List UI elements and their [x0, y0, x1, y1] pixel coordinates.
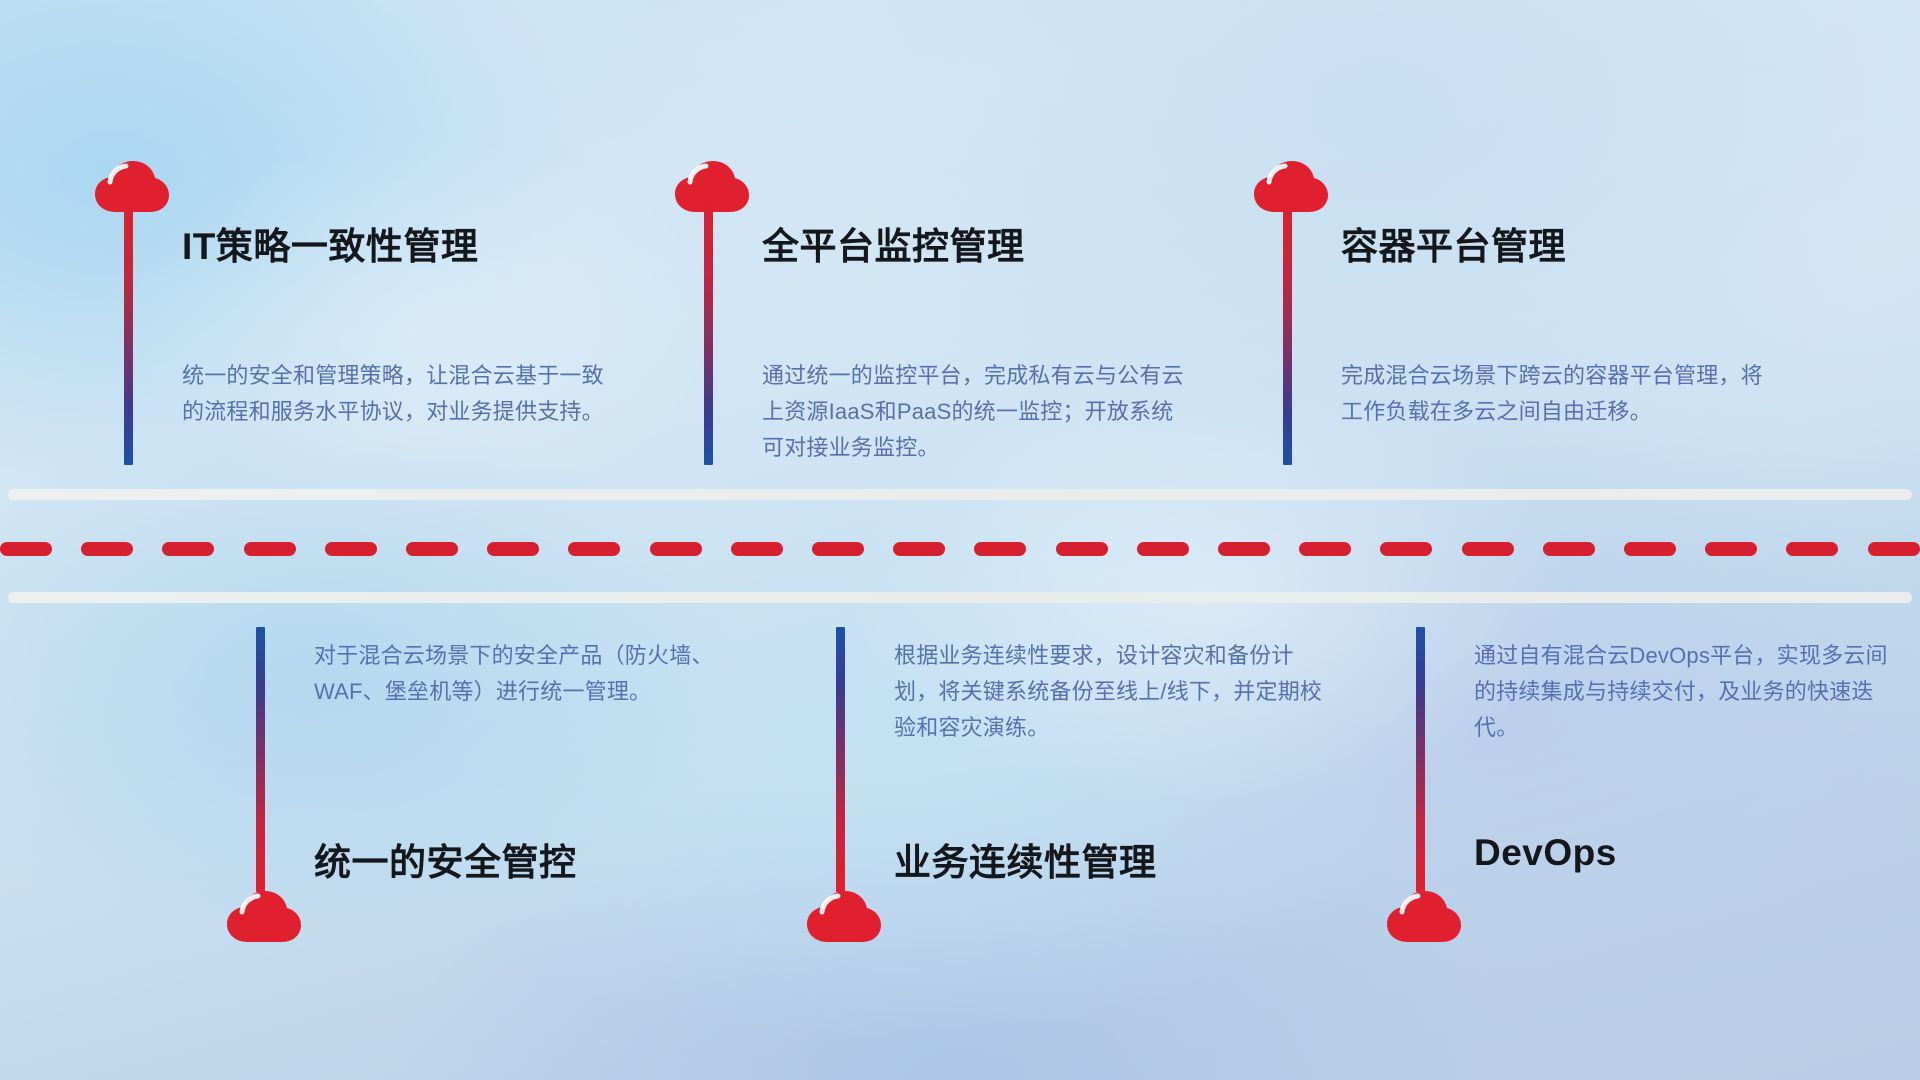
divider-dash: [406, 542, 458, 556]
divider-dash: [0, 542, 52, 556]
top-item-3-title: 容器平台管理: [1341, 216, 1566, 270]
pin-stem: [256, 627, 265, 892]
divider-dash: [487, 542, 539, 556]
bottom-item-3-body: 通过自有混合云DevOps平台，实现多云间的持续集成与持续交付，及业务的快速迭代…: [1474, 638, 1904, 746]
divider-rule-top: [8, 489, 1912, 500]
bottom-item-2-title: 业务连续性管理: [894, 832, 1157, 886]
divider-dash: [1543, 542, 1595, 556]
divider-dash: [1380, 542, 1432, 556]
cloud-icon: [1386, 890, 1462, 946]
divider-dash: [1786, 542, 1838, 556]
divider-dash: [812, 542, 864, 556]
top-item-2-body: 通过统一的监控平台，完成私有云与公有云上资源IaaS和PaaS的统一监控；开放系…: [762, 358, 1192, 466]
divider-dash: [244, 542, 296, 556]
pin-stem: [704, 200, 713, 465]
pin-stem: [1416, 627, 1425, 892]
divider-dash: [1705, 542, 1757, 556]
top-item-3-body: 完成混合云场景下跨云的容器平台管理，将工作负载在多云之间自由迁移。: [1341, 358, 1771, 430]
top-item-2-title: 全平台监控管理: [762, 216, 1025, 270]
bottom-item-2-body: 根据业务连续性要求，设计容灾和备份计划，将关键系统备份至线上/线下，并定期校验和…: [894, 638, 1324, 746]
cloud-icon: [226, 890, 302, 946]
divider-dash: [568, 542, 620, 556]
bottom-item-3-title: DevOps: [1474, 832, 1617, 874]
divider-dash: [81, 542, 133, 556]
cloud-icon: [806, 890, 882, 946]
divider-dash: [325, 542, 377, 556]
bottom-item-1-title: 统一的安全管控: [314, 832, 577, 886]
divider-dash: [1056, 542, 1108, 556]
top-item-1-title: IT策略一致性管理: [182, 216, 478, 270]
divider-dash: [162, 542, 214, 556]
divider-dash: [1462, 542, 1514, 556]
divider-dash: [1218, 542, 1270, 556]
bottom-item-1-body: 对于混合云场景下的安全产品（防火墙、WAF、堡垒机等）进行统一管理。: [314, 638, 744, 710]
pin-stem: [1283, 200, 1292, 465]
divider-dash: [1624, 542, 1676, 556]
divider-rule-bottom: [8, 592, 1912, 603]
divider-dash: [893, 542, 945, 556]
divider-dash: [731, 542, 783, 556]
divider-dash: [974, 542, 1026, 556]
pin-stem: [124, 200, 133, 465]
divider-dash: [1137, 542, 1189, 556]
divider-dash: [1299, 542, 1351, 556]
divider-dashed-line: [0, 542, 1920, 556]
divider-dash: [650, 542, 702, 556]
divider-dash: [1868, 542, 1920, 556]
pin-stem: [836, 627, 845, 892]
top-item-1-body: 统一的安全和管理策略，让混合云基于一致的流程和服务水平协议，对业务提供支持。: [182, 358, 612, 430]
